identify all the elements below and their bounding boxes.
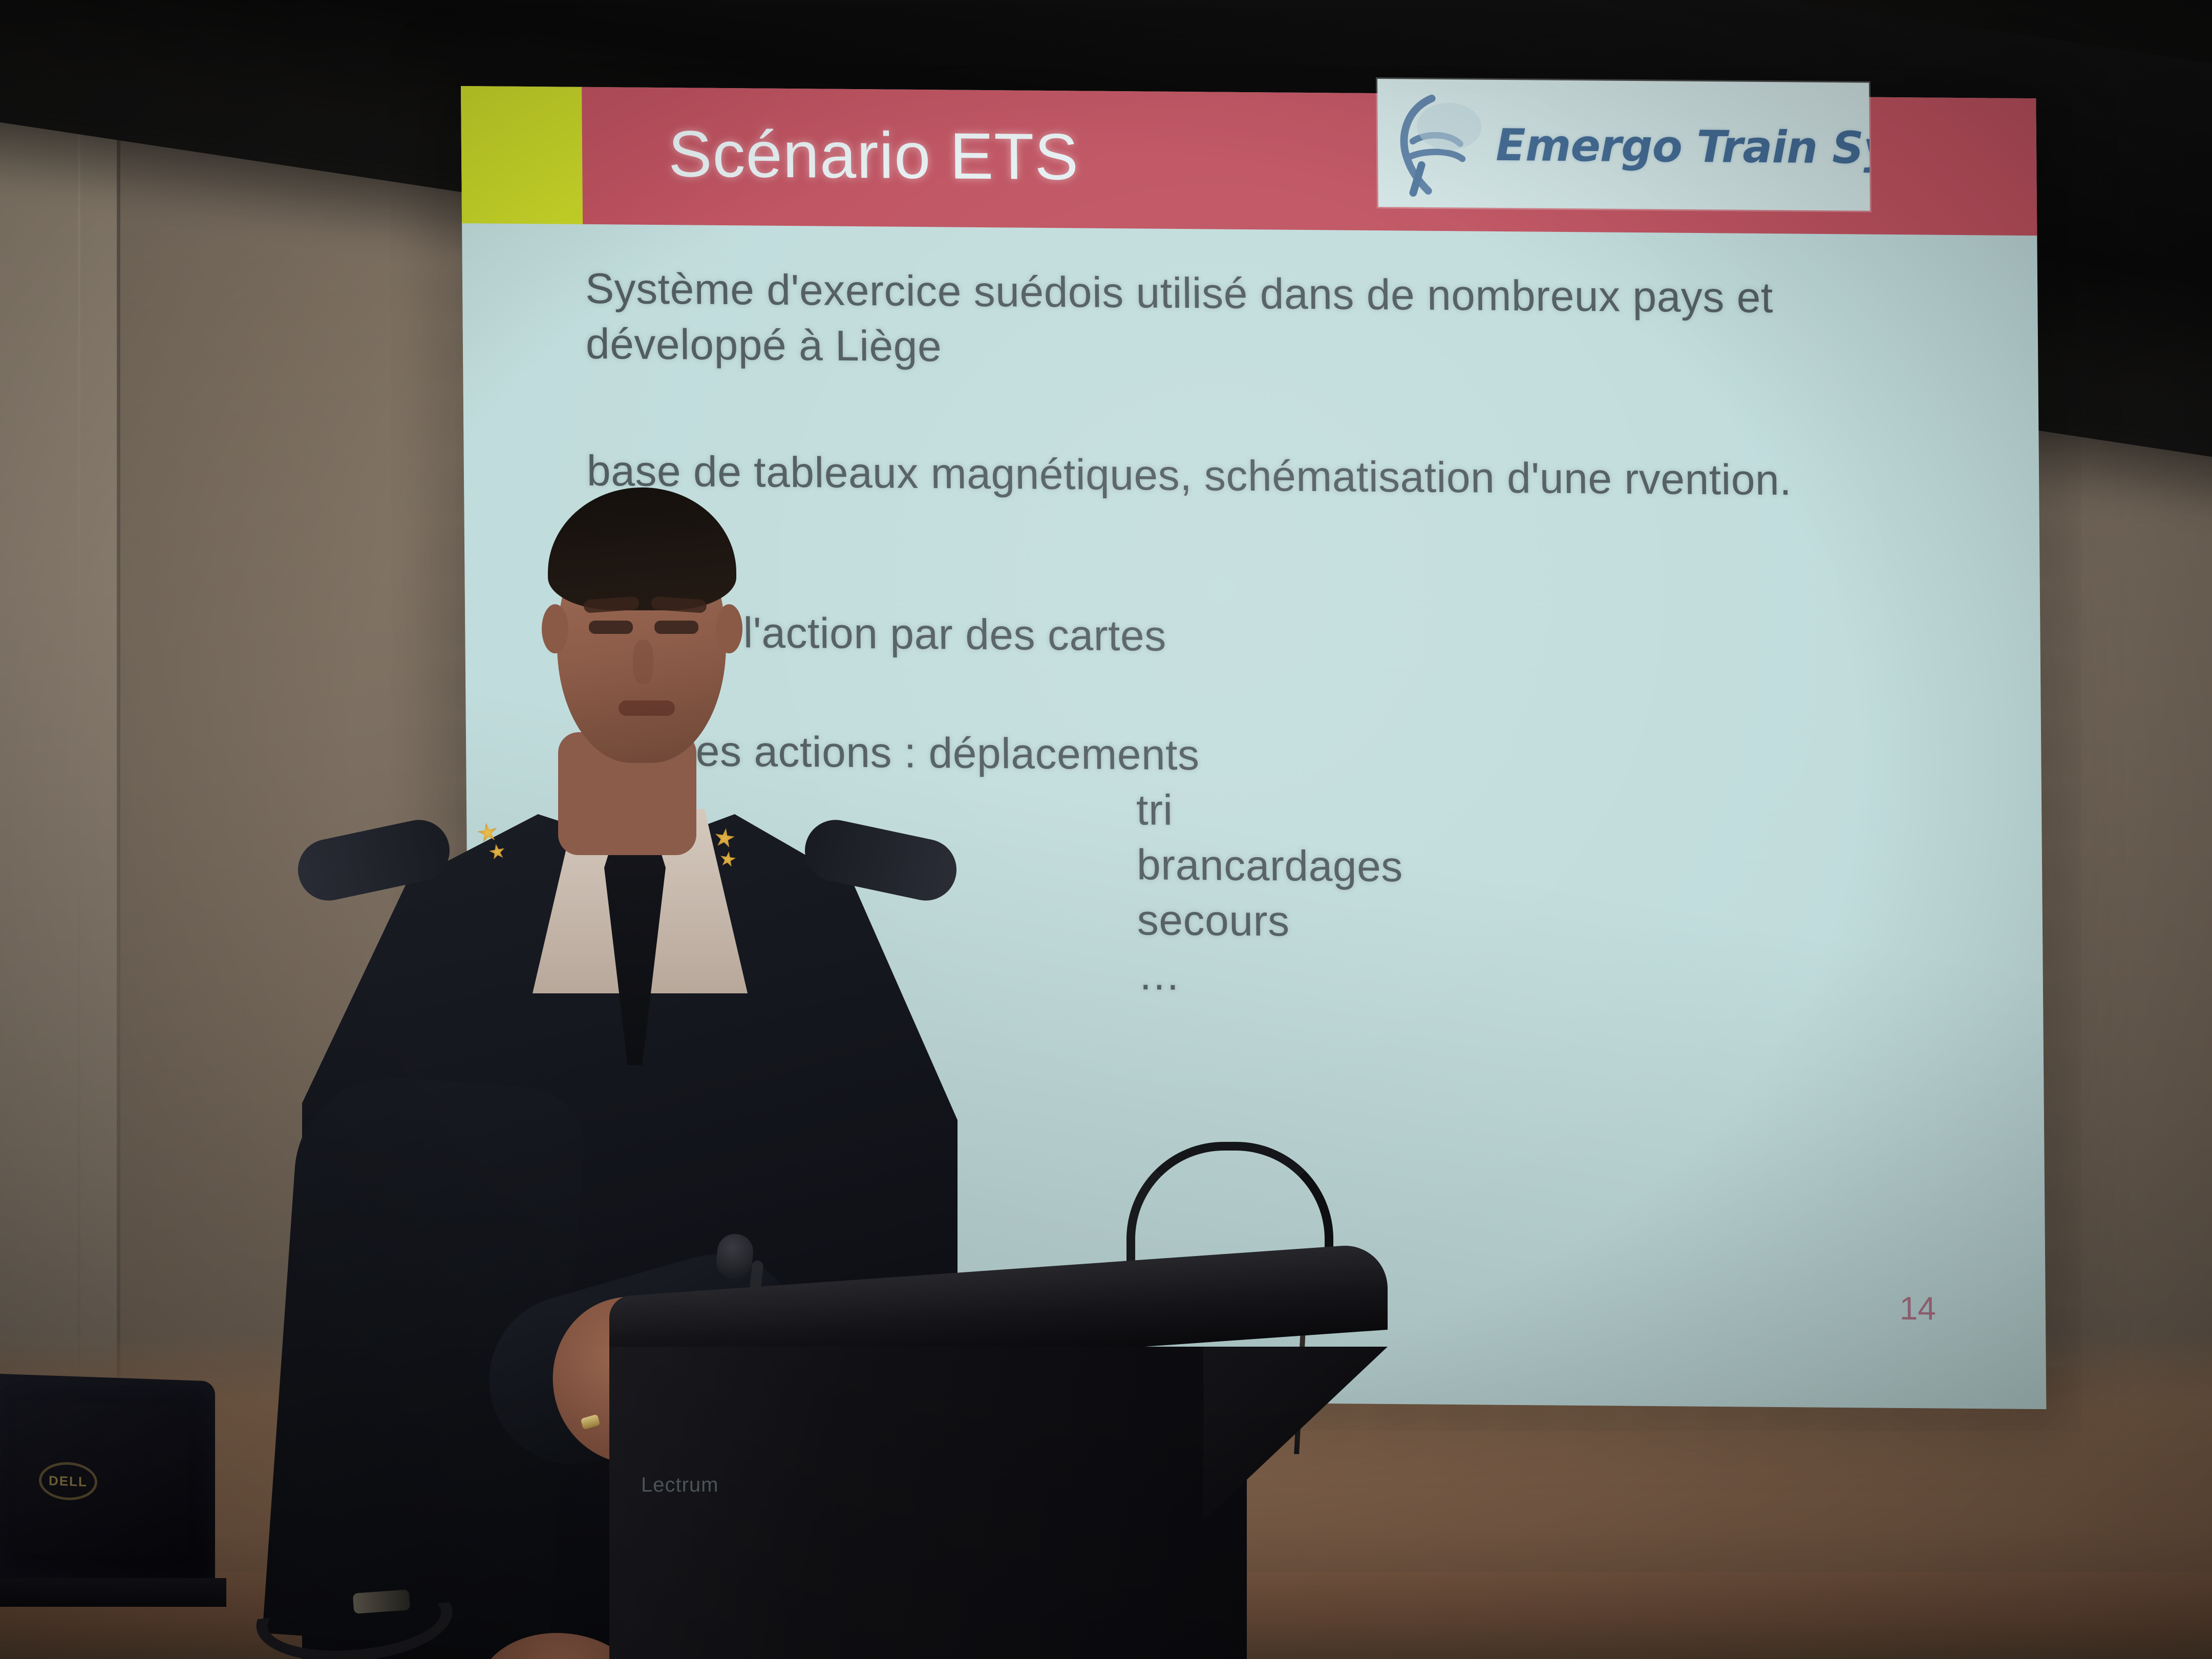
emergo-swoosh-mark bbox=[1389, 88, 1497, 199]
laptop-lid: DELL bbox=[0, 1373, 215, 1586]
slide-bullet-1: Système d'exercice suédois utilisé dans … bbox=[585, 261, 1928, 382]
slide-sub-item-4: … bbox=[1137, 947, 1717, 1007]
presentation-photo-scene: Scénario ETS Emergo Train System Système… bbox=[0, 0, 2212, 1659]
slide-sub-item-0: déplacements bbox=[928, 729, 1200, 779]
slide-sub-item-2: brancardages bbox=[1137, 837, 1717, 897]
speaker-mouth bbox=[619, 700, 675, 716]
lectern-brand-label: Lectrum bbox=[641, 1474, 719, 1497]
speaker-ear-right bbox=[716, 604, 742, 653]
speaker-eye-right bbox=[654, 621, 698, 634]
slide-sub-item-3: secours bbox=[1137, 892, 1717, 952]
speaker-hair bbox=[548, 487, 736, 610]
slide-page-number: 14 bbox=[1899, 1289, 1936, 1328]
slide-title: Scénario ETS bbox=[668, 121, 1079, 190]
emergo-brand-text: Emergo Train System bbox=[1496, 120, 1870, 175]
lectern-front-panel bbox=[609, 1347, 1247, 1659]
cable-connector bbox=[353, 1589, 411, 1614]
dell-logo: DELL bbox=[39, 1461, 97, 1501]
lectern-bevel bbox=[1203, 1347, 1388, 1521]
emergo-train-system-logo: Emergo Train System bbox=[1377, 79, 1870, 211]
laptop-base bbox=[0, 1578, 226, 1607]
slide-sub-item-1: tri bbox=[1136, 782, 1716, 842]
lectern: Lectrum bbox=[609, 1270, 1388, 1659]
rank-insignia-right bbox=[708, 827, 759, 889]
wall-seam-secondary bbox=[78, 20, 80, 1372]
laptop: DELL bbox=[0, 1377, 230, 1618]
speaker-eye-left bbox=[589, 621, 633, 634]
speaker-ear-left bbox=[542, 604, 568, 653]
speaker-nose bbox=[633, 640, 653, 684]
slide-header-accent-block bbox=[461, 86, 583, 224]
